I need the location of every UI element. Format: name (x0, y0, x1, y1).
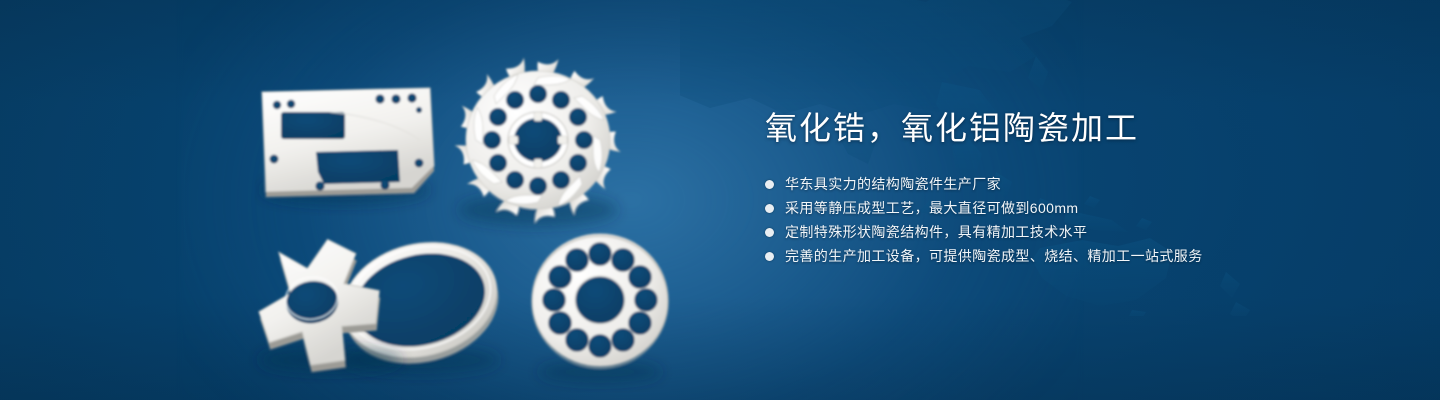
bullet-dot-icon (765, 228, 774, 237)
bullet-text: 完善的生产加工设备，可提供陶瓷成型、烧结、精加工一站式服务 (785, 246, 1203, 267)
bullet-dot-icon (765, 180, 774, 189)
list-item: 华东具实力的结构陶瓷件生产厂家 (765, 174, 1385, 195)
ceramic-cross-shaped-part (250, 233, 402, 378)
banner-copy: 氧化锆，氧化铝陶瓷加工 华东具实力的结构陶瓷件生产厂家 采用等静压成型工艺，最大… (765, 108, 1385, 270)
list-item: 定制特殊形状陶瓷结构件，具有精加工技术水平 (765, 222, 1385, 243)
bullet-text: 采用等静压成型工艺，最大直径可做到600mm (785, 198, 1078, 219)
bullet-dot-icon (765, 204, 774, 213)
list-item: 采用等静压成型工艺，最大直径可做到600mm (765, 198, 1385, 219)
ceramic-products-imagery (0, 0, 720, 400)
ceramic-impeller-rotor (456, 59, 620, 226)
ceramic-perforated-valve-plate (532, 234, 668, 383)
list-item: 完善的生产加工设备，可提供陶瓷成型、烧结、精加工一站式服务 (765, 246, 1385, 267)
bullet-dot-icon (765, 252, 774, 261)
feature-bullet-list: 华东具实力的结构陶瓷件生产厂家 采用等静压成型工艺，最大直径可做到600mm 定… (765, 174, 1385, 267)
bullet-text: 定制特殊形状陶瓷结构件，具有精加工技术水平 (785, 222, 1087, 243)
bullet-text: 华东具实力的结构陶瓷件生产厂家 (785, 174, 1001, 195)
ceramic-machined-plate (260, 88, 434, 204)
hero-banner: 氧化锆，氧化铝陶瓷加工 华东具实力的结构陶瓷件生产厂家 采用等静压成型工艺，最大… (0, 0, 1440, 400)
banner-headline: 氧化锆，氧化铝陶瓷加工 (765, 108, 1385, 148)
